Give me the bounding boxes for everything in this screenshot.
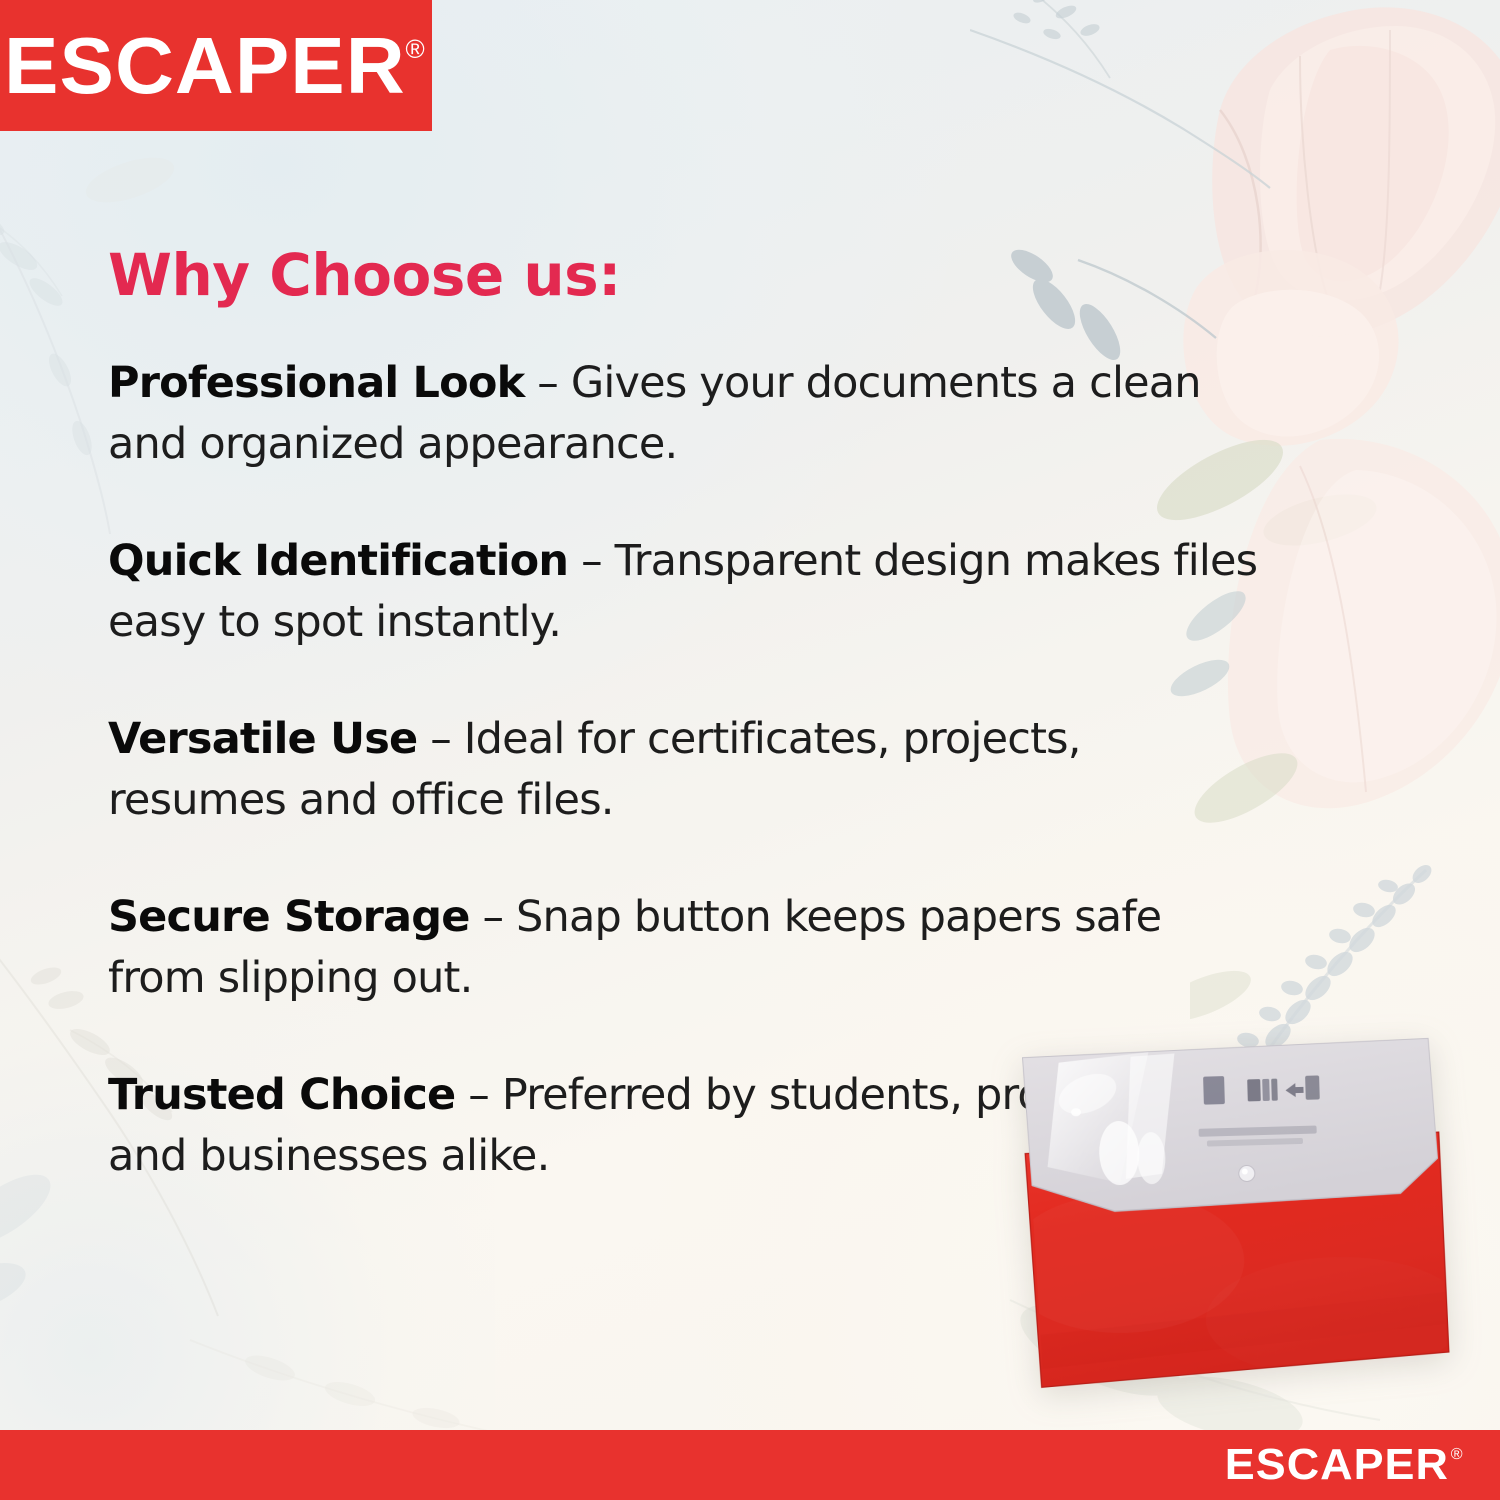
page-title: Why Choose us:	[108, 244, 621, 308]
feature-item: Secure Storage – Snap button keeps paper…	[108, 887, 1268, 1009]
feature-dash: –	[568, 536, 614, 586]
top-brand-banner: ESCAPER ®	[0, 0, 432, 131]
brand-logo-bottom: ESCAPER ®	[1227, 1445, 1462, 1485]
feature-dash: –	[417, 714, 463, 764]
brand-logo-top: ESCAPER ®	[8, 30, 424, 102]
brand-logo-text: ESCAPER	[1225, 1445, 1449, 1485]
feature-term: Professional Look	[108, 358, 524, 408]
feature-term: Trusted Choice	[108, 1070, 455, 1120]
feature-item: Professional Look – Gives your documents…	[108, 353, 1268, 475]
feature-dash: –	[455, 1070, 501, 1120]
brand-logo-text: ESCAPER	[4, 30, 406, 102]
feature-term: Secure Storage	[108, 892, 470, 942]
feature-term: Versatile Use	[108, 714, 417, 764]
red-document-envelope-folder-icon	[998, 1024, 1460, 1408]
feature-term: Quick Identification	[108, 536, 568, 586]
feature-dash: –	[524, 358, 570, 408]
feature-item: Quick Identification – Transparent desig…	[108, 531, 1268, 653]
feature-dash: –	[470, 892, 516, 942]
registered-trademark-icon: ®	[1451, 1447, 1462, 1463]
feature-item: Versatile Use – Ideal for certificates, …	[108, 709, 1268, 831]
product-photo	[998, 1024, 1460, 1408]
registered-trademark-icon: ®	[406, 36, 425, 62]
infographic-page: ESCAPER ® Why Choose us: Professional Lo…	[0, 0, 1500, 1500]
bottom-brand-banner: ESCAPER ®	[0, 1430, 1500, 1500]
